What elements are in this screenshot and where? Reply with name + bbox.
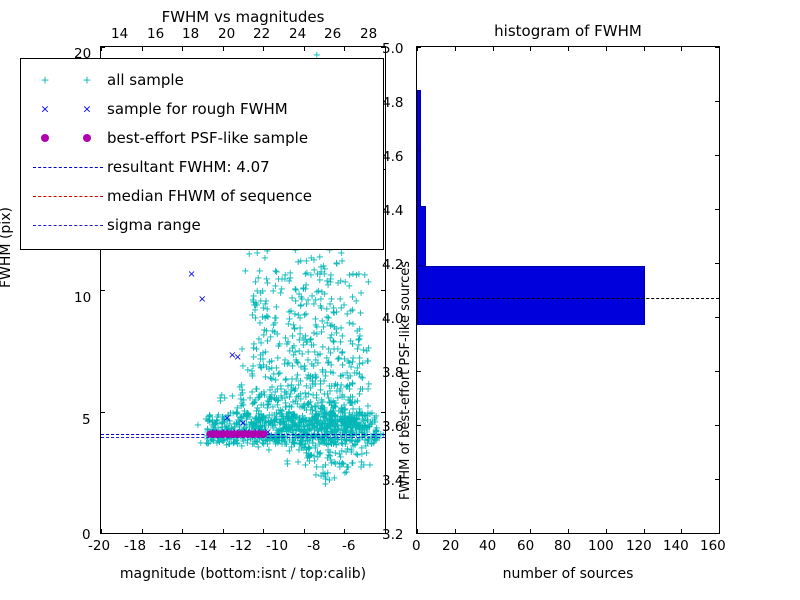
legend-symbol-dashdot-blue xyxy=(29,215,107,235)
legend-item-psf-like: best-effort PSF-like sample xyxy=(29,123,375,152)
legend-symbol-dashed-blue xyxy=(29,157,107,177)
legend-item-resultant-fwhm: resultant FWHM: 4.07 xyxy=(29,152,375,181)
legend-label-0: all sample xyxy=(107,71,184,89)
legend-symbol-dot xyxy=(29,128,107,148)
median-line xyxy=(417,298,719,299)
legend-symbol-dashed-red xyxy=(29,186,107,206)
left-xlabel: magnitude (bottom:isnt / top:calib) xyxy=(90,566,396,582)
legend-item-sigma-range: sigma range xyxy=(29,210,375,239)
legend-label-3: resultant FWHM: 4.07 xyxy=(107,158,270,176)
histogram-bar xyxy=(417,90,421,149)
right-xlabel: number of sources xyxy=(416,566,720,582)
histogram-bar xyxy=(417,266,645,325)
legend-box: ++ all sample ×× sample for rough FWHM b… xyxy=(20,58,384,250)
histogram-bars xyxy=(417,47,719,533)
legend-label-5: sigma range xyxy=(107,216,201,234)
histogram-bar xyxy=(417,150,421,207)
legend-symbol-plus: ++ xyxy=(29,70,107,90)
legend-item-rough-fwhm: ×× sample for rough FWHM xyxy=(29,94,375,123)
legend-label-4: median FHWM of sequence xyxy=(107,187,312,205)
left-chart-title: FWHM vs magnitudes xyxy=(100,8,386,26)
legend-label-2: best-effort PSF-like sample xyxy=(107,129,308,147)
legend-symbol-cross: ×× xyxy=(29,99,107,119)
left-ylabel: FWHM (pix) xyxy=(0,207,14,288)
histogram-bar xyxy=(417,206,426,265)
legend-label-1: sample for rough FWHM xyxy=(107,100,288,118)
legend-item-all-sample: ++ all sample xyxy=(29,65,375,94)
right-chart-title: histogram of FWHM xyxy=(416,22,720,40)
right-ylabel: FWHM of best-effort PSF-like sources xyxy=(398,261,413,500)
legend-item-median-fwhm: median FHWM of sequence xyxy=(29,181,375,210)
